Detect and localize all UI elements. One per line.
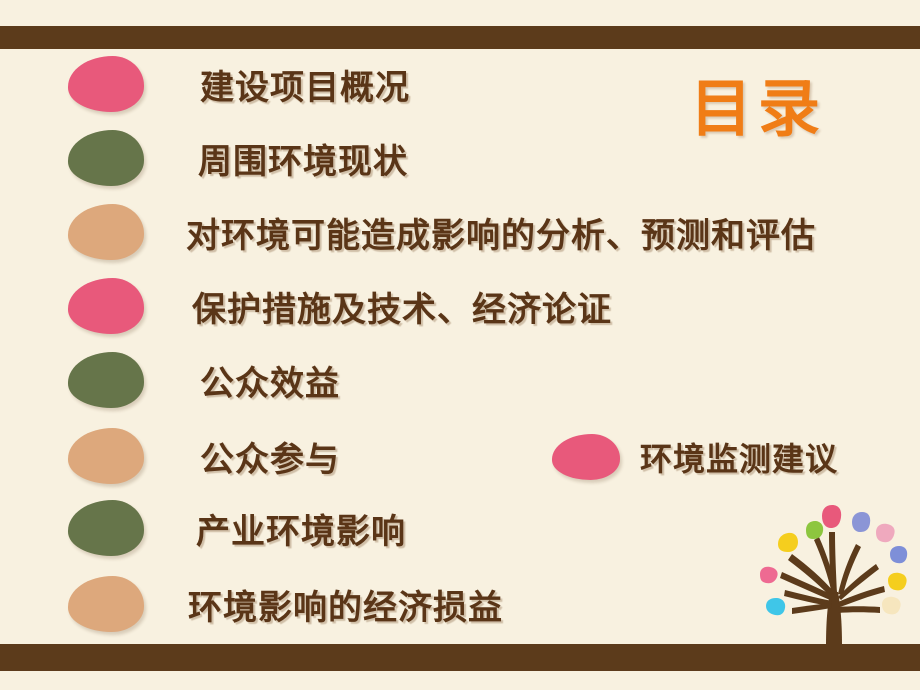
toc-item-label: 产业环境影响 [196,504,406,553]
toc-item-5[interactable]: 公众效益 [68,352,340,408]
toc-item-2[interactable]: 周围环境现状 [68,130,408,186]
toc-item-label: 环境监测建议 [640,434,838,480]
bullet-blob-tan [68,576,144,632]
bullet-blob-green [68,352,144,408]
top-divider-bar [0,26,920,49]
toc-item-9[interactable]: 环境监测建议 [552,434,838,480]
page-title: 目录 [690,58,826,148]
toc-item-label: 对环境可能造成影响的分析、预测和评估 [186,208,816,257]
toc-item-label: 建设项目概况 [200,60,410,109]
toc-item-8[interactable]: 环境影响的经济损益 [68,576,503,632]
tree-illustration [748,494,920,654]
bullet-blob-green [68,500,144,556]
toc-item-label: 保护措施及技术、经济论证 [192,282,612,331]
toc-item-label: 公众参与 [200,432,340,481]
bullet-blob-tan [68,204,144,260]
toc-item-7[interactable]: 产业环境影响 [68,500,406,556]
bullet-blob-green [68,130,144,186]
slide-canvas: 目录 建设项目概况 周围环境现状 对环境可能造成影响的分析、预测和评估 保护措施… [0,0,920,690]
toc-item-1[interactable]: 建设项目概况 [68,56,410,112]
bullet-blob-pink [68,278,144,334]
bullet-blob-pink [552,434,620,480]
toc-item-3[interactable]: 对环境可能造成影响的分析、预测和评估 [68,204,816,260]
toc-item-6[interactable]: 公众参与 [68,428,340,484]
toc-item-label: 公众效益 [200,356,340,405]
bullet-blob-tan [68,428,144,484]
toc-item-label: 环境影响的经济损益 [188,580,503,629]
toc-item-4[interactable]: 保护措施及技术、经济论证 [68,278,612,334]
toc-item-label: 周围环境现状 [198,134,408,183]
bullet-blob-pink [68,56,144,112]
